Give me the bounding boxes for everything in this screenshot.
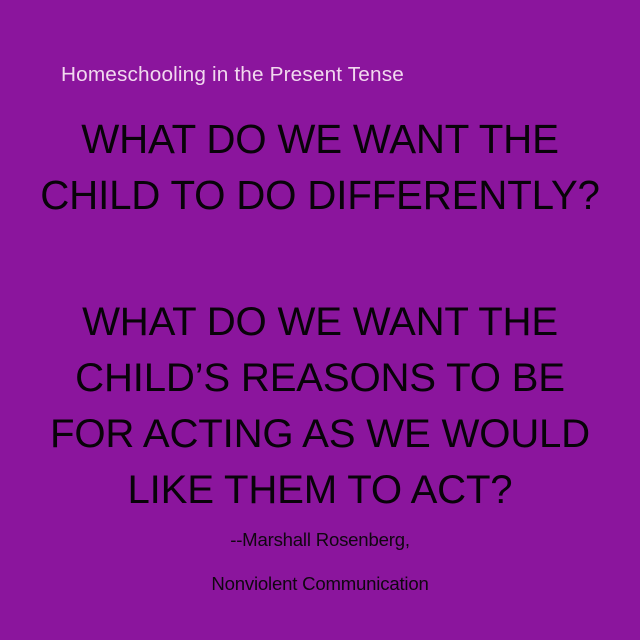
quote-line: CHILD TO DO DIFFERENTLY? xyxy=(0,168,640,224)
attribution-source: Nonviolent Communication xyxy=(0,562,640,606)
quote-line: WHAT DO WE WANT THE xyxy=(0,112,640,168)
quote-line: WHAT DO WE WANT THE xyxy=(0,294,640,350)
attribution-author: --Marshall Rosenberg, xyxy=(0,518,640,562)
series-label: Homeschooling in the Present Tense xyxy=(61,64,404,86)
quote-line: CHILD’S REASONS TO BE xyxy=(0,350,640,406)
attribution: --Marshall Rosenberg, Nonviolent Communi… xyxy=(0,518,640,606)
block-spacer xyxy=(0,224,640,294)
question-block-one: WHAT DO WE WANT THE CHILD TO DO DIFFEREN… xyxy=(0,112,640,224)
quote-card: Homeschooling in the Present Tense WHAT … xyxy=(0,0,640,640)
quote-line: LIKE THEM TO ACT? xyxy=(0,462,640,518)
quote-line: FOR ACTING AS WE WOULD xyxy=(0,406,640,462)
question-block-two: WHAT DO WE WANT THE CHILD’S REASONS TO B… xyxy=(0,294,640,518)
quote-text-body: WHAT DO WE WANT THE CHILD TO DO DIFFEREN… xyxy=(0,112,640,518)
